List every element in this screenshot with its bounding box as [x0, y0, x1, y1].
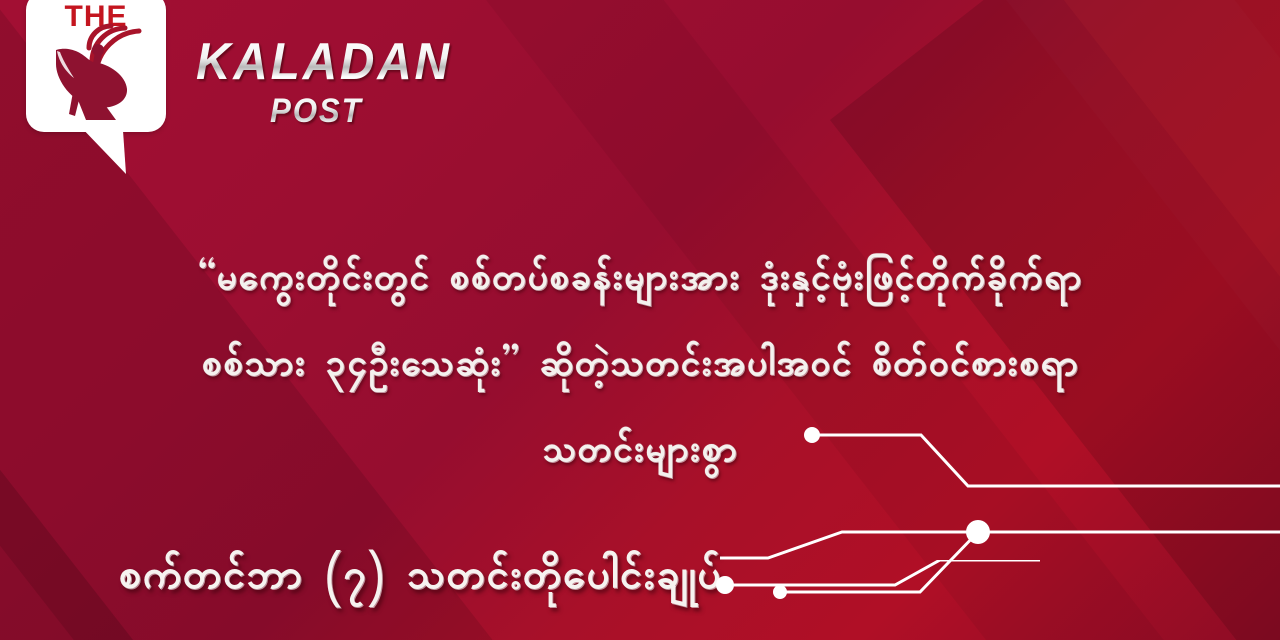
headline-line-1: “မကွေးတိုင်းတွင် စစ်တပ်စခန်းများအား ဒုံး…	[50, 238, 1230, 324]
brand: KALADAN POST	[196, 38, 536, 131]
headline-line-2: စစ်သား ၃၄ဦးသေဆုံး” ဆိုတဲ့သတင်းအပါအဝင် စိ…	[50, 324, 1230, 410]
brand-subtitle: POST	[270, 92, 515, 131]
satellite-dish-icon	[26, 0, 176, 177]
news-card: THE KALADAN POST “မကွေးတိုင်းတွင်	[0, 0, 1280, 640]
headline-line-3: သတင်းများစွာ	[50, 410, 1230, 496]
headline: “မကွေးတိုင်းတွင် စစ်တပ်စခန်းများအား ဒုံး…	[50, 238, 1230, 496]
caption: စက်တင်ဘာ (၇) သတင်းတိုပေါင်းချုပ်	[118, 548, 721, 608]
logo[interactable]: THE	[26, 0, 176, 177]
caption-connector	[700, 560, 1040, 620]
brand-name: KALADAN	[196, 38, 509, 88]
